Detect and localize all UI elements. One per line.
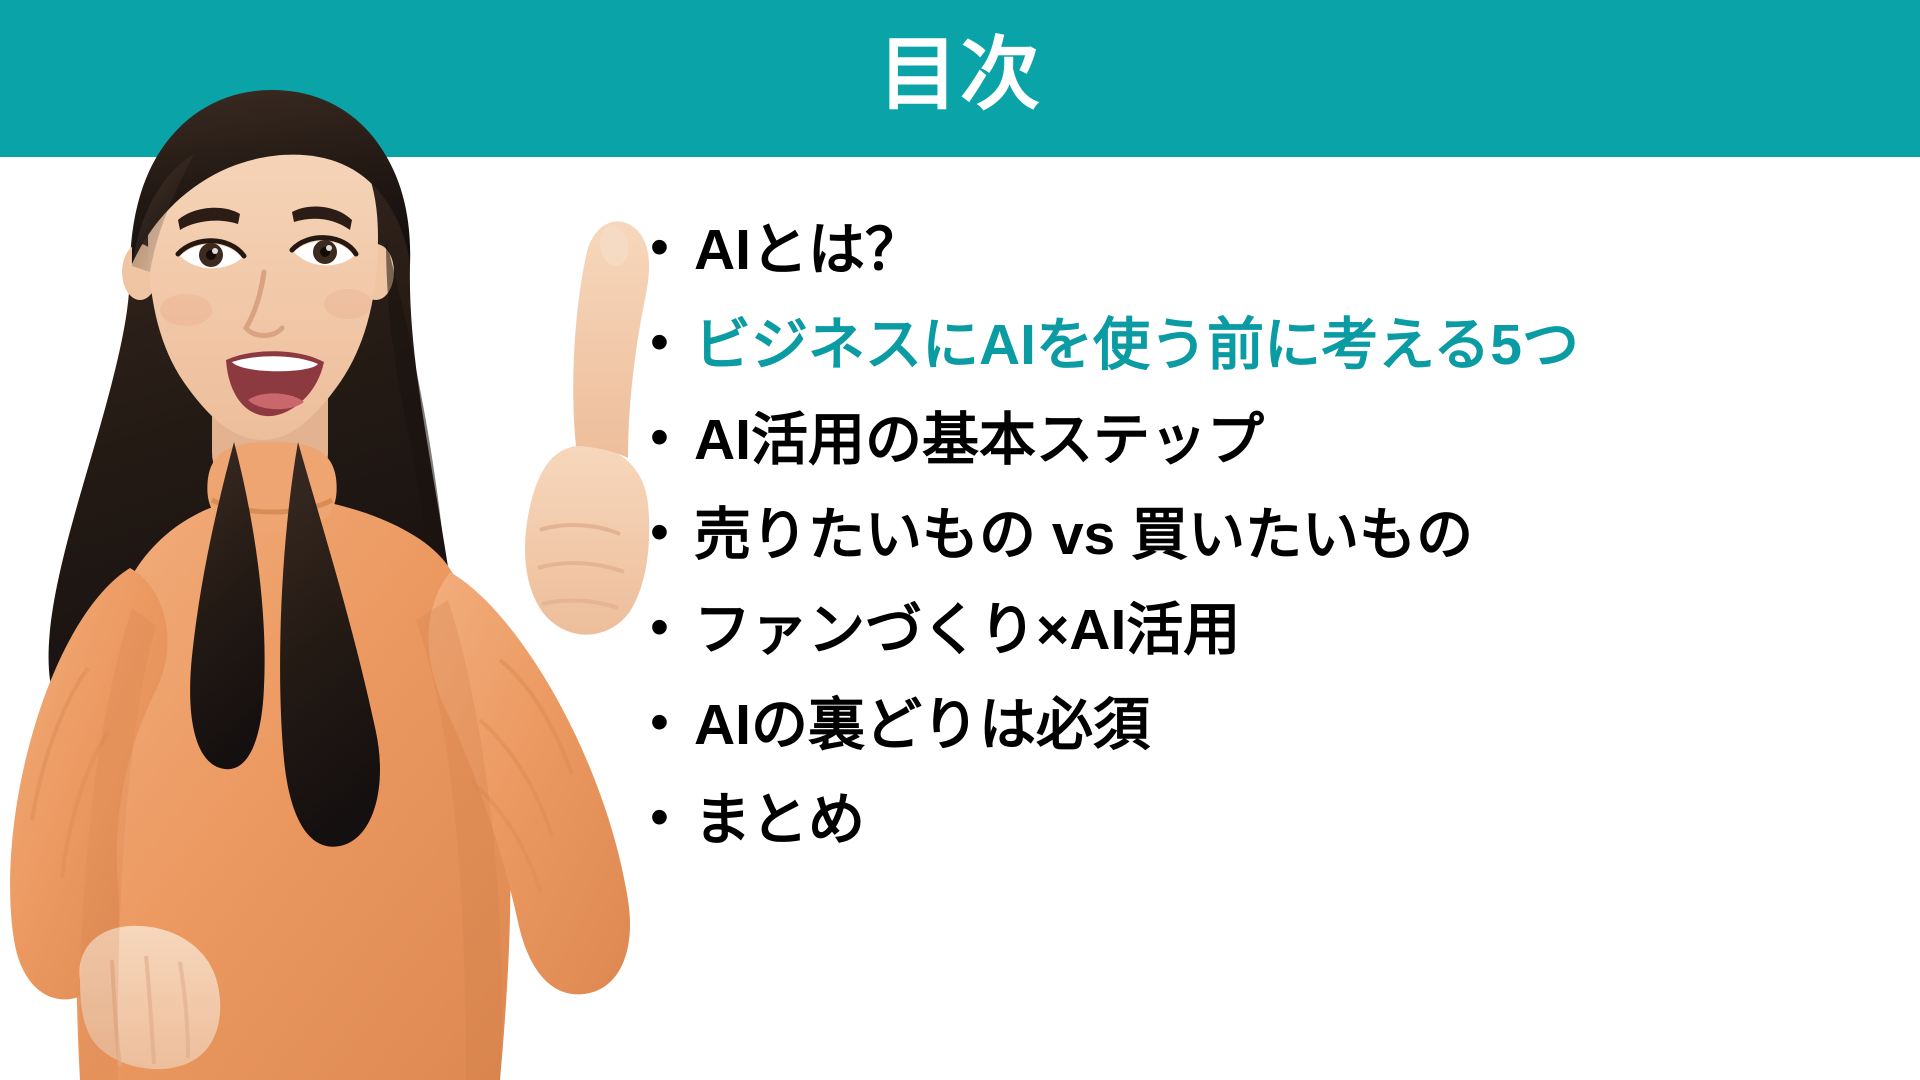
pointing-woman-photo bbox=[0, 60, 740, 1080]
list-item[interactable]: • 売りたいもの vs 買いたいもの bbox=[650, 488, 1900, 583]
agenda-item-label: 売りたいもの vs 買いたいもの bbox=[694, 488, 1473, 583]
agenda-item-label: AIの裏どりは必須 bbox=[694, 678, 1150, 773]
agenda-slide: 目次 bbox=[0, 0, 1920, 1080]
hand-fist bbox=[525, 446, 649, 635]
list-item[interactable]: • AIの裏どりは必須 bbox=[650, 678, 1900, 773]
agenda-item-label: ファンづくり×AI活用 bbox=[694, 583, 1240, 678]
cheek-right bbox=[324, 289, 372, 319]
cheek-left bbox=[160, 294, 212, 326]
list-item[interactable]: • ファンづくり×AI活用 bbox=[650, 583, 1900, 678]
agenda-item-label: AI活用の基本ステップ bbox=[694, 393, 1264, 488]
list-item[interactable]: • まとめ bbox=[650, 773, 1900, 868]
list-item[interactable]: • AI活用の基本ステップ bbox=[650, 393, 1900, 488]
list-item[interactable]: • AIとは？ bbox=[650, 203, 1900, 298]
agenda-item-label: ビジネスにAIを使う前に考える5つ bbox=[694, 298, 1579, 393]
agenda-list: • AIとは？ • ビジネスにAIを使う前に考える5つ • AI活用の基本ステッ… bbox=[650, 175, 1900, 1055]
list-item[interactable]: • ビジネスにAIを使う前に考える5つ bbox=[650, 298, 1900, 393]
